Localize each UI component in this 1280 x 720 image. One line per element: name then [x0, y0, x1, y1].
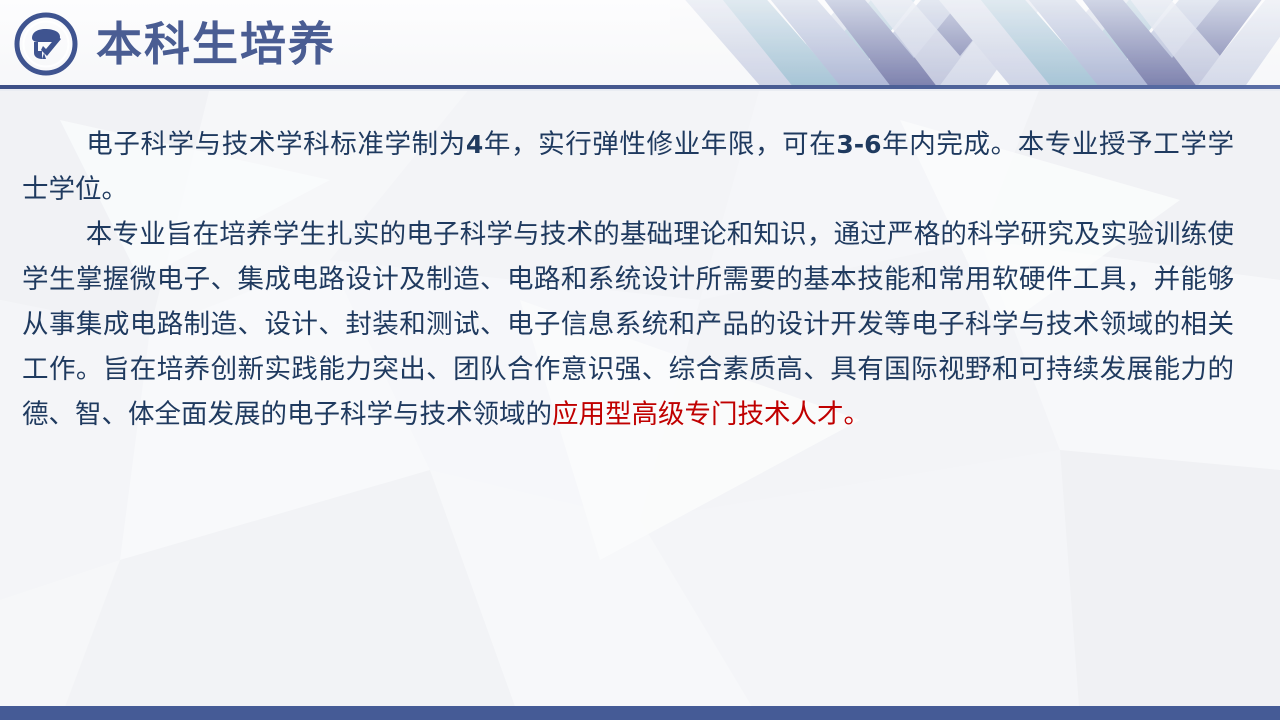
- p2-highlight: 应用型高级专门技术人才。: [552, 399, 870, 429]
- p1-part2: 年，实行弹性修业年限，可在: [483, 129, 836, 159]
- slide-content: 电子科学与技术学科标准学制为4年，实行弹性修业年限，可在3-6年内完成。本专业授…: [22, 122, 1234, 437]
- p2-body: 本专业旨在培养学生扎实的电子科学与技术的基础理论和知识，通过严格的科学研究及实验…: [22, 219, 1234, 429]
- header-chevron-decoration: [670, 0, 1280, 88]
- slide: 本科生培养 电子科学与技术学科标准学制为4年，实行弹性修业年限，可在3-6年内完…: [0, 0, 1280, 720]
- p1-years: 4: [466, 130, 483, 159]
- paragraph-degree-duration: 电子科学与技术学科标准学制为4年，实行弹性修业年限，可在3-6年内完成。本专业授…: [22, 122, 1234, 212]
- header-divider: [0, 85, 1280, 89]
- footer-bar: [0, 706, 1280, 720]
- slide-header: 本科生培养: [0, 0, 1280, 88]
- paragraph-training-objectives: 本专业旨在培养学生扎实的电子科学与技术的基础理论和知识，通过严格的科学研究及实验…: [22, 212, 1234, 437]
- page-title: 本科生培养: [96, 8, 336, 80]
- p1-year-range: 3-6: [836, 130, 881, 159]
- graduation-badge-icon: [14, 12, 78, 76]
- p1-part1: 电子科学与技术学科标准学制为: [86, 129, 466, 159]
